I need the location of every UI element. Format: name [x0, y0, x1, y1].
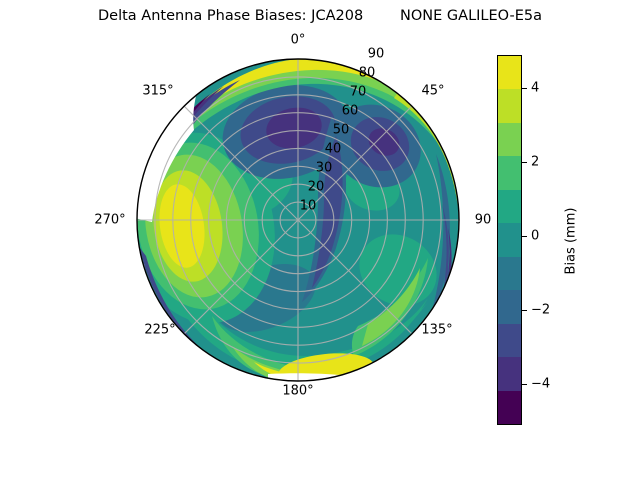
radial-tick-90: 90: [368, 47, 385, 62]
polar-contour-svg: [136, 58, 460, 382]
polar-plot: 0° 45° 90 135° 180° 225° 270° 315° 10 20…: [136, 58, 460, 382]
angular-tick-135: 135°: [421, 323, 452, 338]
radial-tick-50: 50: [333, 123, 350, 138]
colorbar-tick-4: 4: [531, 81, 539, 96]
polar-grid: [137, 59, 459, 381]
colorbar-band-8: [498, 123, 521, 156]
colorbar-tick-0: 0: [531, 229, 539, 244]
radial-tick-30: 30: [316, 161, 333, 176]
angular-tick-90: 90: [475, 213, 492, 228]
colorbar-tick-minus2: −2: [531, 303, 550, 318]
radial-tick-70: 70: [350, 85, 367, 100]
radial-tick-80: 80: [359, 66, 376, 81]
colorbar-axis-label: Bias (mm): [564, 208, 579, 275]
radial-tick-40: 40: [325, 142, 342, 157]
angular-tick-270: 270°: [94, 213, 125, 228]
colorbar-tick-minus2-mark: [522, 310, 527, 311]
colorbar-band-2: [498, 324, 521, 357]
colorbar-tick-minus4: −4: [531, 377, 550, 392]
colorbar-tick-2: 2: [531, 155, 539, 170]
colorbar-gradient: [497, 55, 522, 425]
colorbar-band-10: [498, 56, 521, 89]
colorbar-tick-minus4-mark: [522, 384, 527, 385]
radial-tick-10: 10: [300, 199, 317, 214]
page-title: Delta Antenna Phase Biases: JCA208 NONE …: [0, 8, 640, 24]
radial-tick-60: 60: [342, 104, 359, 119]
angular-tick-180: 180°: [282, 384, 313, 399]
colorbar-band-1: [498, 357, 521, 390]
colorbar-tick-0-mark: [522, 236, 527, 237]
colorbar-band-3: [498, 290, 521, 323]
colorbar: 4 2 0 −2 −4 Bias (mm): [497, 55, 617, 427]
colorbar-band-6: [498, 190, 521, 223]
colorbar-band-4: [498, 257, 521, 290]
angular-tick-315: 315°: [142, 84, 173, 99]
radial-tick-20: 20: [308, 180, 325, 195]
colorbar-tick-4-mark: [522, 88, 527, 89]
angular-tick-225: 225°: [144, 323, 175, 338]
angular-tick-0: 0°: [291, 33, 306, 48]
colorbar-band-7: [498, 156, 521, 189]
colorbar-band-5: [498, 223, 521, 256]
colorbar-band-9: [498, 89, 521, 122]
angular-tick-45: 45°: [421, 84, 444, 99]
colorbar-band-0: [498, 391, 521, 424]
figure-canvas: Delta Antenna Phase Biases: JCA208 NONE …: [0, 0, 640, 480]
colorbar-tick-2-mark: [522, 162, 527, 163]
